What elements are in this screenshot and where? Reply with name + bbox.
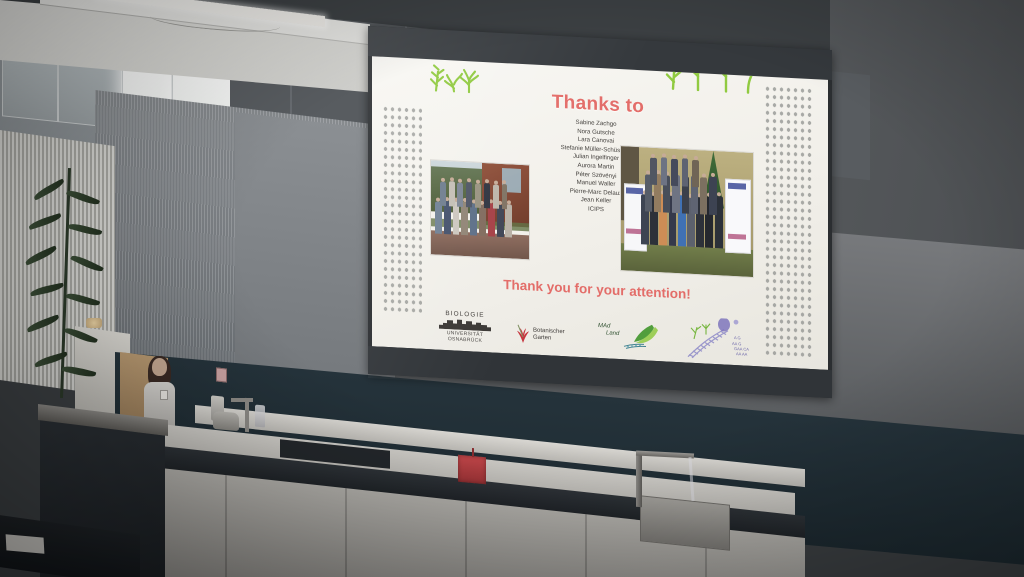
projection-screen: Thanks to Sabine Zachgo Nora Gutsche Lar… [368, 26, 832, 398]
kettle [213, 411, 239, 431]
paper-on-desk [6, 534, 45, 553]
logo-madland: MAd Land [598, 321, 662, 354]
logo-line-mad: MAd [598, 323, 610, 330]
dna-helix-icon: A G AA G GAA CA AA AA [684, 316, 764, 362]
svg-text:A G: A G [734, 335, 741, 340]
presenter-badge [160, 390, 168, 400]
logo-line-land: Land [606, 330, 619, 337]
decorative-dot-grid-left [382, 105, 422, 313]
closing-message: Thank you for your attention! [432, 273, 762, 305]
group-photo-indoors [620, 145, 754, 278]
logo-dna-plant-genomics: A G AA G GAA CA AA AA [684, 316, 764, 362]
red-container [458, 455, 486, 484]
decorative-dot-grid-right [764, 85, 812, 357]
flower-icon [516, 324, 530, 345]
second-faucet-arm [231, 398, 253, 402]
presenter-head [152, 358, 167, 376]
leaf-fern-icon [622, 322, 662, 352]
second-faucet [245, 398, 249, 432]
faucet-column [636, 452, 642, 507]
sink [640, 495, 730, 550]
door-sign [216, 367, 227, 382]
bottle [255, 405, 265, 428]
logo-botanischer-garten: Botanischer Garten [516, 324, 565, 347]
slide-canvas: Thanks to Sabine Zachgo Nora Gutsche Lar… [372, 56, 828, 370]
group-photo-outdoors [430, 159, 530, 260]
potted-plant [18, 160, 128, 410]
lecture-hall-photo: Thanks to Sabine Zachgo Nora Gutsche Lar… [0, 0, 1024, 577]
plant-illustration-left [428, 61, 482, 94]
svg-text:AA AA: AA AA [736, 351, 748, 357]
logo-university-osnabrueck: BIOLOGIE UNIVERSITÄT OSNABRÜCK [436, 310, 494, 345]
